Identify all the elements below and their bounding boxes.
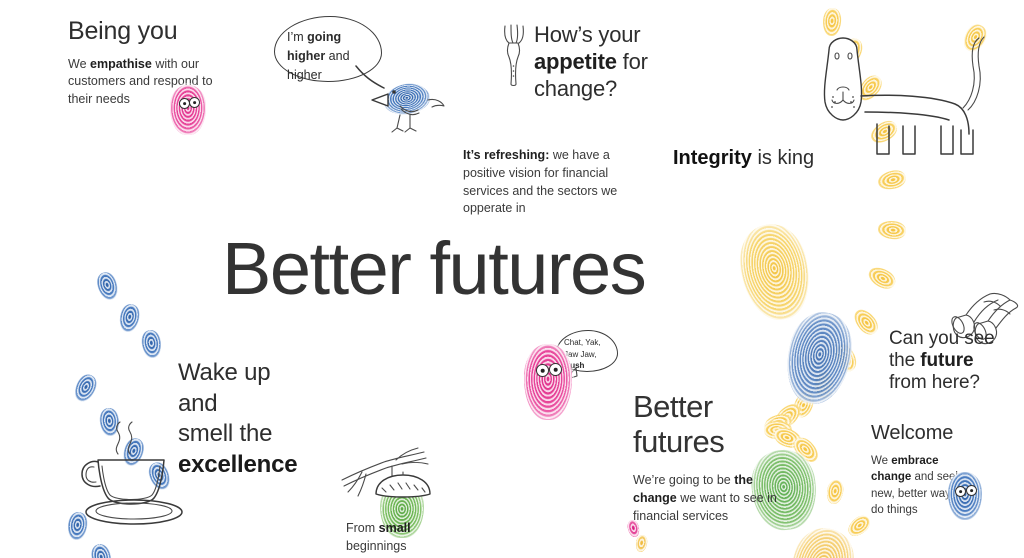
sb-lead: From [346, 521, 379, 535]
sf-line2-lead: the [889, 350, 920, 371]
fork-icon [500, 22, 530, 88]
poster-canvas: Being you We empathise with our customer… [0, 0, 1024, 558]
pink-fingerprint-creature-icon [170, 85, 206, 135]
blue-fingerprint-creature-icon [948, 472, 982, 520]
block-better-futures-2: Better futures [633, 390, 823, 459]
sb-rest: beginnings [346, 539, 406, 553]
being-you-body-bold: empathise [90, 57, 152, 71]
lion-with-fingerprint-mane-icon [765, 8, 1015, 158]
gh-l2b: and [325, 49, 349, 63]
appetite-line1: How’s your [534, 22, 640, 47]
pink-fingerprint-creature-icon-2 [524, 344, 572, 420]
block-wake-up: Wake up and smell the excellence [178, 358, 338, 481]
lion-line-art [765, 8, 1015, 158]
wake-line3: smell the [178, 420, 272, 447]
being-you-heading: Being you [68, 18, 228, 46]
appetite-line2-rest: for [617, 49, 648, 74]
sb-bold: small [379, 521, 411, 535]
going-higher-text: I’m going higher and higher [287, 28, 379, 84]
bf2-body-lead: We’re going to be [633, 473, 734, 487]
sf-line1: Can you see [889, 328, 995, 349]
welcome-body-lead: We [871, 455, 891, 467]
acorn-on-branch-icon: From small beginnings [340, 448, 460, 553]
block-refreshing: It’s refreshing: we have a positive visi… [463, 147, 631, 218]
gh-l1a: I’m [287, 30, 307, 44]
bf2-line1: Better [633, 389, 713, 424]
gh-l1b: going [307, 30, 341, 44]
sf-line3: from here? [889, 372, 980, 393]
small-multicolour-fingerprint-icon [628, 518, 656, 542]
better-futures-2-body: We’re going to be the change we want to … [633, 472, 793, 525]
welcome-heading: Welcome [871, 422, 981, 445]
bird-outline [370, 78, 450, 136]
blue-fingerprint-bird-icon [370, 78, 450, 136]
block-small-beginnings: From small beginnings [346, 520, 456, 556]
multicolour-fingerprint-icon [742, 216, 854, 342]
wake-line4-bold: excellence [178, 451, 297, 478]
gh-l2a: higher [287, 49, 325, 63]
hero-headline: Better futures [222, 232, 645, 306]
refreshing-bold: It’s refreshing: [463, 148, 549, 162]
block-see-future: Can you see the future from here? [889, 328, 1009, 394]
integrity-bold: Integrity [673, 147, 752, 169]
wake-line1: Wake up [178, 359, 270, 386]
gh-l3: higher [287, 68, 322, 82]
acorn-cap [372, 472, 434, 504]
wake-line2: and [178, 390, 217, 417]
appetite-line3: change? [534, 76, 617, 101]
sf-line2-bold: future [920, 350, 973, 371]
block-appetite: How’s your appetite for change? [534, 22, 664, 102]
being-you-body-lead: We [68, 57, 90, 71]
appetite-line2-bold: appetite [534, 49, 617, 74]
bf2-line2: futures [633, 424, 724, 459]
